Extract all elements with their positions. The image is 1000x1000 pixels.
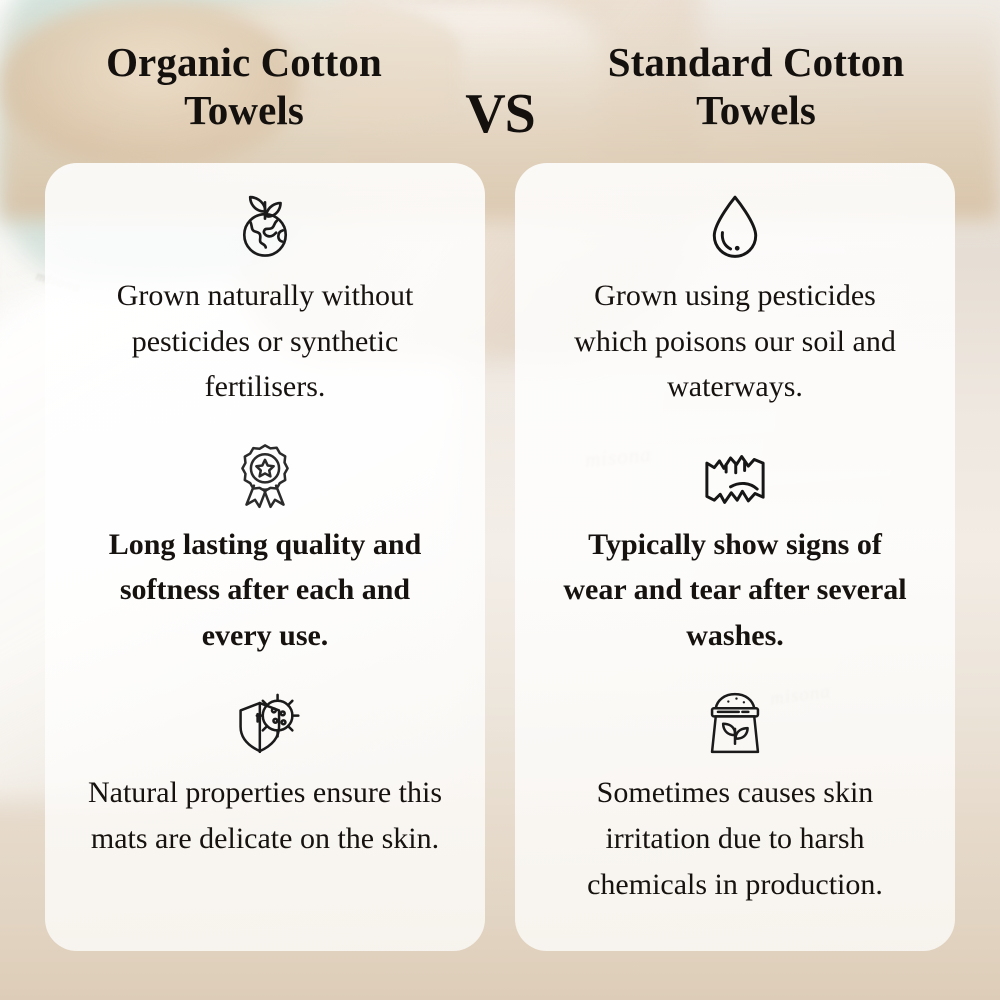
infographic-stage: misona misona misona Organic Cotton Towe… <box>0 0 1000 1000</box>
organic-feature-2-text: Long lasting quality and softness after … <box>85 522 445 659</box>
earth-sprout-icon <box>228 189 302 263</box>
standard-feature-1-text: Grown using pesticides which poisons our… <box>555 273 915 410</box>
standard-feature-2-text: Typically show signs of wear and tear af… <box>555 522 915 659</box>
shield-virus-icon <box>228 686 302 760</box>
quality-badge-icon <box>228 438 302 512</box>
standard-feature-1: Grown using pesticides which poisons our… <box>535 189 935 434</box>
left-column-title: Organic Cotton Towels <box>54 38 434 135</box>
standard-feature-3: Sometimes causes skin irritation due to … <box>535 686 935 931</box>
organic-column-card: Grown naturally without pesticides or sy… <box>45 163 485 951</box>
organic-feature-3: Natural properties ensure this mats are … <box>65 686 465 931</box>
fertiliser-sack-icon <box>698 686 772 760</box>
right-column-title: Standard Cotton Towels <box>566 38 946 135</box>
standard-feature-3-text: Sometimes causes skin irritation due to … <box>555 770 915 907</box>
torn-cloth-icon <box>698 438 772 512</box>
header: Organic Cotton Towels VS Standard Cotton… <box>0 0 1000 160</box>
organic-feature-2: Long lasting quality and softness after … <box>65 438 465 683</box>
organic-feature-3-text: Natural properties ensure this mats are … <box>85 770 445 861</box>
organic-feature-1-text: Grown naturally without pesticides or sy… <box>85 273 445 410</box>
organic-feature-1: Grown naturally without pesticides or sy… <box>65 189 465 434</box>
vs-divider-label: VS <box>440 38 560 142</box>
comparison-cards: Grown naturally without pesticides or sy… <box>45 163 955 951</box>
standard-feature-2: Typically show signs of wear and tear af… <box>535 438 935 683</box>
water-drop-icon <box>698 189 772 263</box>
standard-column-card: Grown using pesticides which poisons our… <box>515 163 955 951</box>
